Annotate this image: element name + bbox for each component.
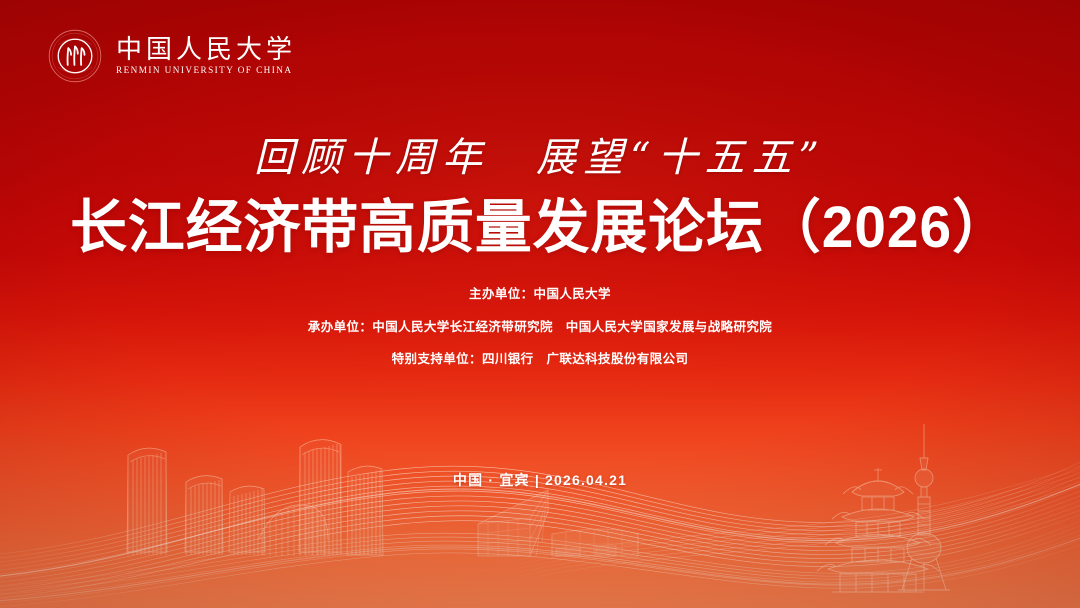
poster-subtitle: 回顾十周年 展望“十五五” (0, 133, 1080, 183)
organizer-block: 主办单位：中国人民大学 承办单位：中国人民大学长江经济带研究院 中国人民大学国家… (0, 288, 1080, 366)
chongqing-raffles-city-towers-icon (127, 440, 383, 556)
poster-canvas: 中国人民大学 RENMIN UNIVERSITY OF CHINA 回顾十周年 … (0, 0, 1080, 608)
renmin-university-seal-icon (47, 28, 103, 84)
organizer-host: 主办单位：中国人民大学 (0, 288, 1080, 301)
logo-name-en: RENMIN UNIVERSITY OF CHINA (116, 66, 296, 75)
yibin-museum-building-icon (478, 490, 638, 556)
event-meta: 中国 · 宜宾 | 2026.04.21 (0, 470, 1080, 490)
logo-name-cn: 中国人民大学 (116, 37, 296, 63)
university-logo: 中国人民大学 RENMIN UNIVERSITY OF CHINA (47, 28, 296, 84)
organizer-co-host: 承办单位：中国人民大学长江经济带研究院 中国人民大学国家发展与战略研究院 (0, 321, 1080, 334)
organizer-supporters: 特别支持单位：四川银行 广联达科技股份有限公司 (0, 353, 1080, 366)
oriental-pearl-tower-icon (898, 424, 950, 590)
poster-title: 长江经济带高质量发展论坛（2026） (11, 196, 1069, 261)
